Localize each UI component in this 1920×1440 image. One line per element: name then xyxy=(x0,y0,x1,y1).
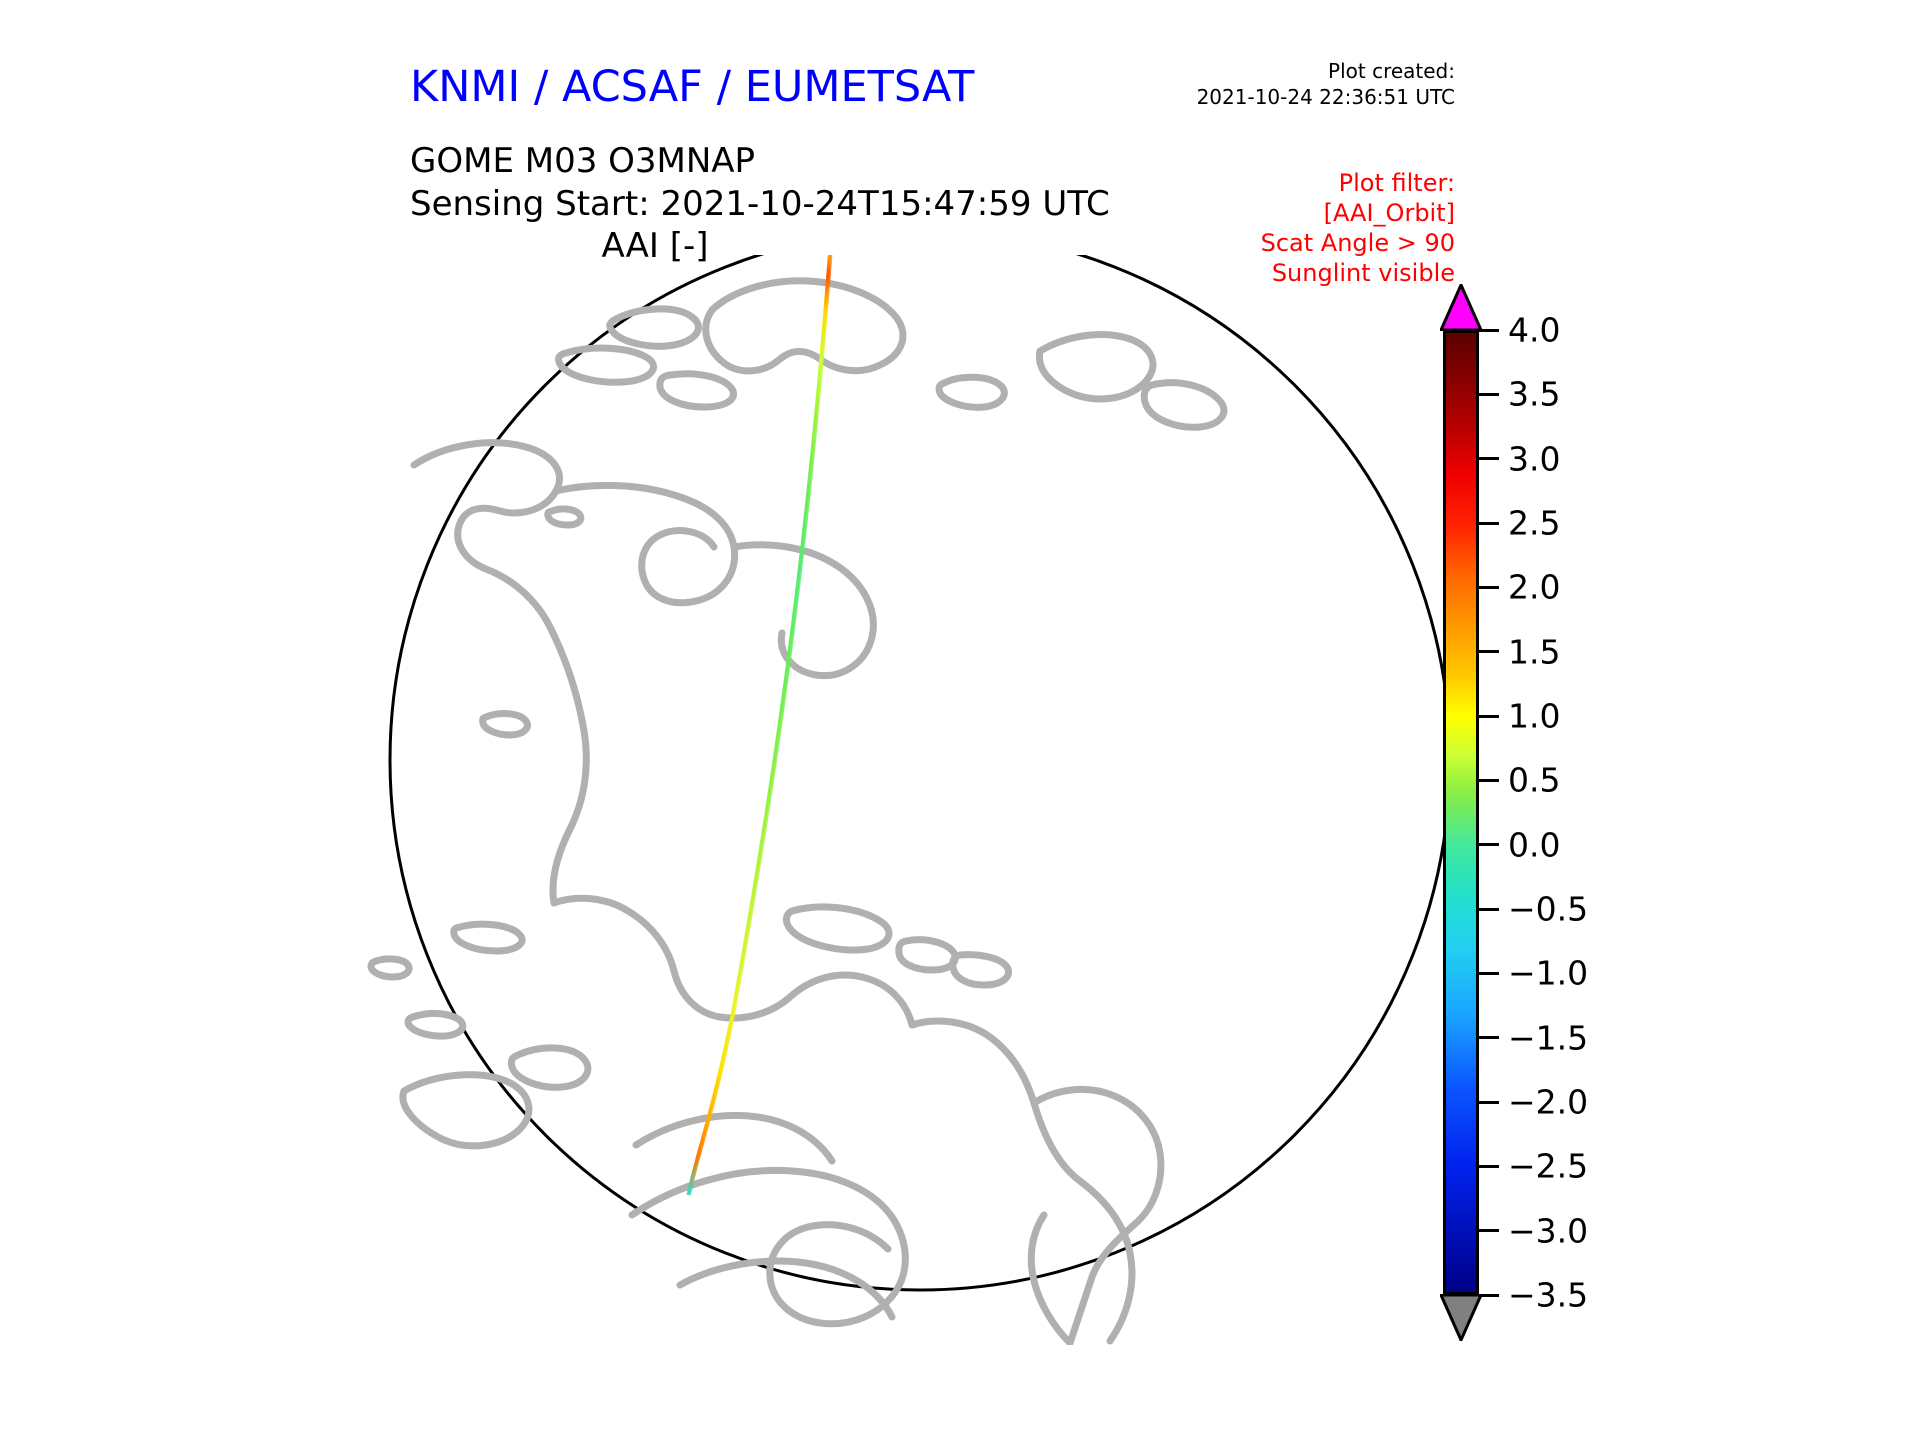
colorbar-tick-label: 4.0 xyxy=(1508,311,1560,350)
colorbar-tick-label: 2.5 xyxy=(1508,504,1560,543)
colorbar-tick-label: 1.0 xyxy=(1508,697,1560,736)
colorbar-tick xyxy=(1479,1165,1499,1168)
plot-created-block: Plot created: 2021-10-24 22:36:51 UTC xyxy=(1197,58,1455,110)
colorbar-tick-label: −1.0 xyxy=(1508,954,1588,993)
coastline-island-pacific-3 xyxy=(371,959,409,977)
colorbar-gradient-bar xyxy=(1443,330,1479,1295)
colorbar[interactable]: 4.03.53.02.52.01.51.00.50.0−0.5−1.0−1.5−… xyxy=(1420,280,1820,1340)
colorbar-tick xyxy=(1479,329,1499,332)
organisation-title: KNMI / ACSAF / EUMETSAT xyxy=(410,62,974,112)
colorbar-tick xyxy=(1479,843,1499,846)
colorbar-tick-label: −2.5 xyxy=(1508,1147,1588,1186)
plot-filter-item-1: Scat Angle > 90 xyxy=(1261,228,1455,258)
globe-outline xyxy=(390,255,1450,1290)
colorbar-tick-label: 0.0 xyxy=(1508,825,1560,864)
colorbar-tick-label: −0.5 xyxy=(1508,890,1588,929)
colorbar-tick xyxy=(1479,779,1499,782)
plot-created-label: Plot created: xyxy=(1197,58,1455,84)
plot-filter-label: Plot filter: xyxy=(1261,168,1455,198)
colorbar-tick-label: −3.5 xyxy=(1508,1276,1588,1315)
colorbar-tick xyxy=(1479,908,1499,911)
coastline-island-pacific-5 xyxy=(408,1013,463,1036)
coastline-island-pacific-7 xyxy=(403,1075,529,1146)
colorbar-under-range-outline xyxy=(1440,1294,1482,1341)
colorbar-tick-label: −1.5 xyxy=(1508,1018,1588,1057)
colorbar-tick xyxy=(1479,1036,1499,1039)
colorbar-tick xyxy=(1479,457,1499,460)
colorbar-tick xyxy=(1479,586,1499,589)
colorbar-tick xyxy=(1479,1294,1499,1297)
colorbar-tick-label: 2.0 xyxy=(1508,568,1560,607)
colorbar-tick-label: −2.0 xyxy=(1508,1083,1588,1122)
colorbar-tick xyxy=(1479,972,1499,975)
plot-created-timestamp: 2021-10-24 22:36:51 UTC xyxy=(1197,84,1455,110)
orthographic-globe xyxy=(340,255,1500,1345)
colorbar-tick xyxy=(1479,522,1499,525)
colorbar-tick-label: 0.5 xyxy=(1508,761,1560,800)
colorbar-tick xyxy=(1479,393,1499,396)
product-title-block: GOME M03 O3MNAP Sensing Start: 2021-10-2… xyxy=(410,140,1110,226)
colorbar-tick-label: 3.5 xyxy=(1508,375,1560,414)
plot-filter-item-0: [AAI_Orbit] xyxy=(1261,198,1455,228)
colorbar-tick-label: 3.0 xyxy=(1508,439,1560,478)
colorbar-tick xyxy=(1479,1101,1499,1104)
colorbar-tick xyxy=(1479,715,1499,718)
colorbar-tick-label: −3.0 xyxy=(1508,1211,1588,1250)
sensing-start-line: Sensing Start: 2021-10-24T15:47:59 UTC xyxy=(410,183,1110,226)
colorbar-gradient-fill xyxy=(1446,333,1476,1292)
colorbar-tick-label: 1.5 xyxy=(1508,632,1560,671)
colorbar-tick xyxy=(1479,1229,1499,1232)
instrument-product-line: GOME M03 O3MNAP xyxy=(410,140,1110,183)
colorbar-tick xyxy=(1479,650,1499,653)
colorbar-over-range-outline xyxy=(1440,284,1482,331)
map-canvas[interactable] xyxy=(340,255,1500,1345)
